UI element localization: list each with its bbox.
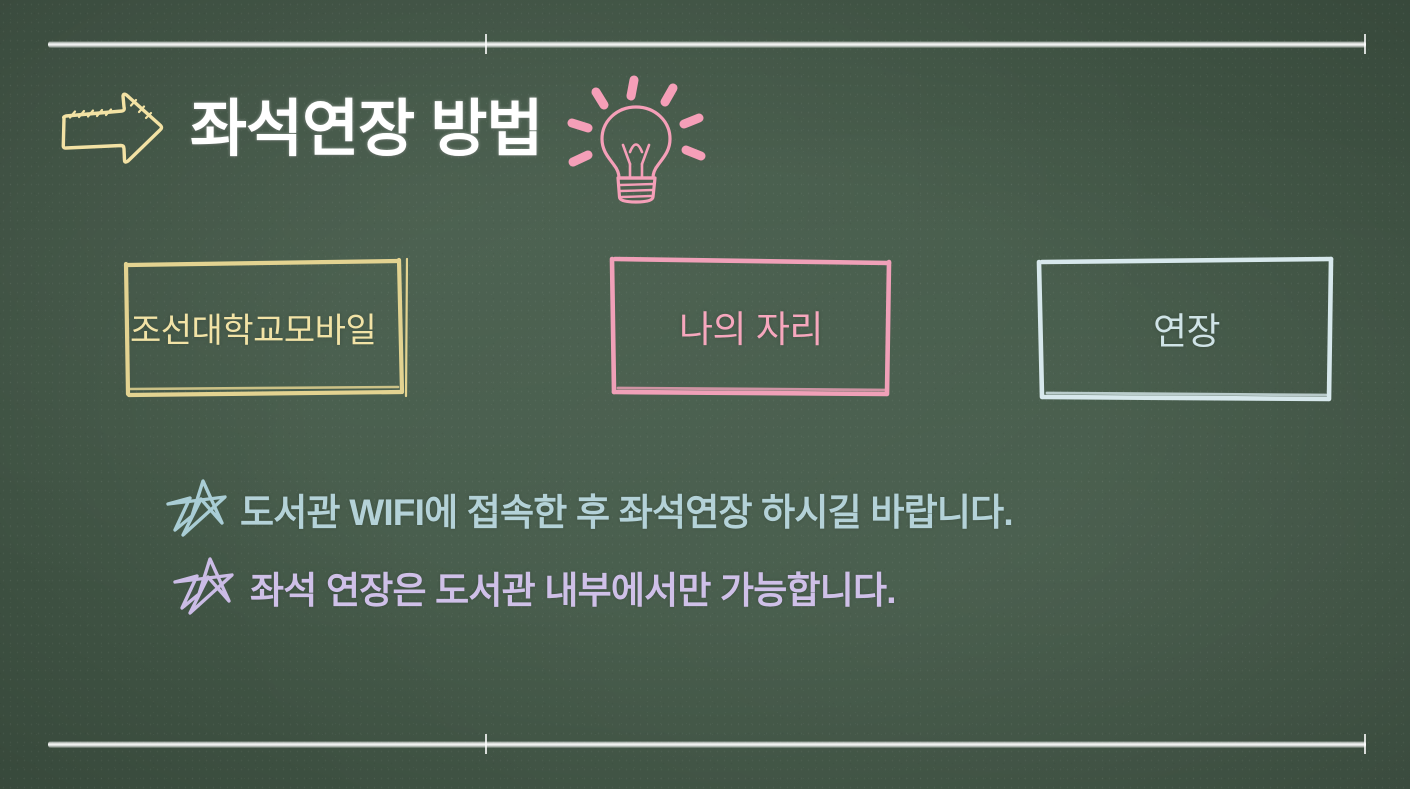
step-box-label: 나의 자리: [606, 299, 896, 353]
step-box-2[interactable]: 나의 자리: [606, 252, 896, 400]
step-box-label: 연장: [1034, 301, 1339, 355]
note-text: 도서관 WIFI에 접속한 후 좌석연장 하시길 바랍니다.: [168, 482, 1013, 536]
step-box-3[interactable]: 연장: [1034, 253, 1339, 403]
star-icon: [172, 556, 236, 618]
bottom-divider-line: [48, 741, 1366, 748]
step-box-label: 조선대학교모바일: [122, 303, 408, 352]
step-box-1[interactable]: 조선대학교모바일: [122, 256, 408, 398]
note-text: 좌석 연장은 도서관 내부에서만 가능합니다.: [178, 560, 896, 614]
note-item-2: 좌석 연장은 도서관 내부에서만 가능합니다.: [0, 548, 1410, 626]
step-box-list: 조선대학교모바일 나의 자리: [0, 0, 1410, 789]
star-icon: [165, 478, 229, 540]
chalkboard-slide: 좌석연장 방법: [0, 0, 1410, 789]
notes-list: 도서관 WIFI에 접속한 후 좌석연장 하시길 바랍니다. 좌석 연장은 도서…: [0, 470, 1410, 626]
note-item-1: 도서관 WIFI에 접속한 후 좌석연장 하시길 바랍니다.: [0, 470, 1410, 548]
